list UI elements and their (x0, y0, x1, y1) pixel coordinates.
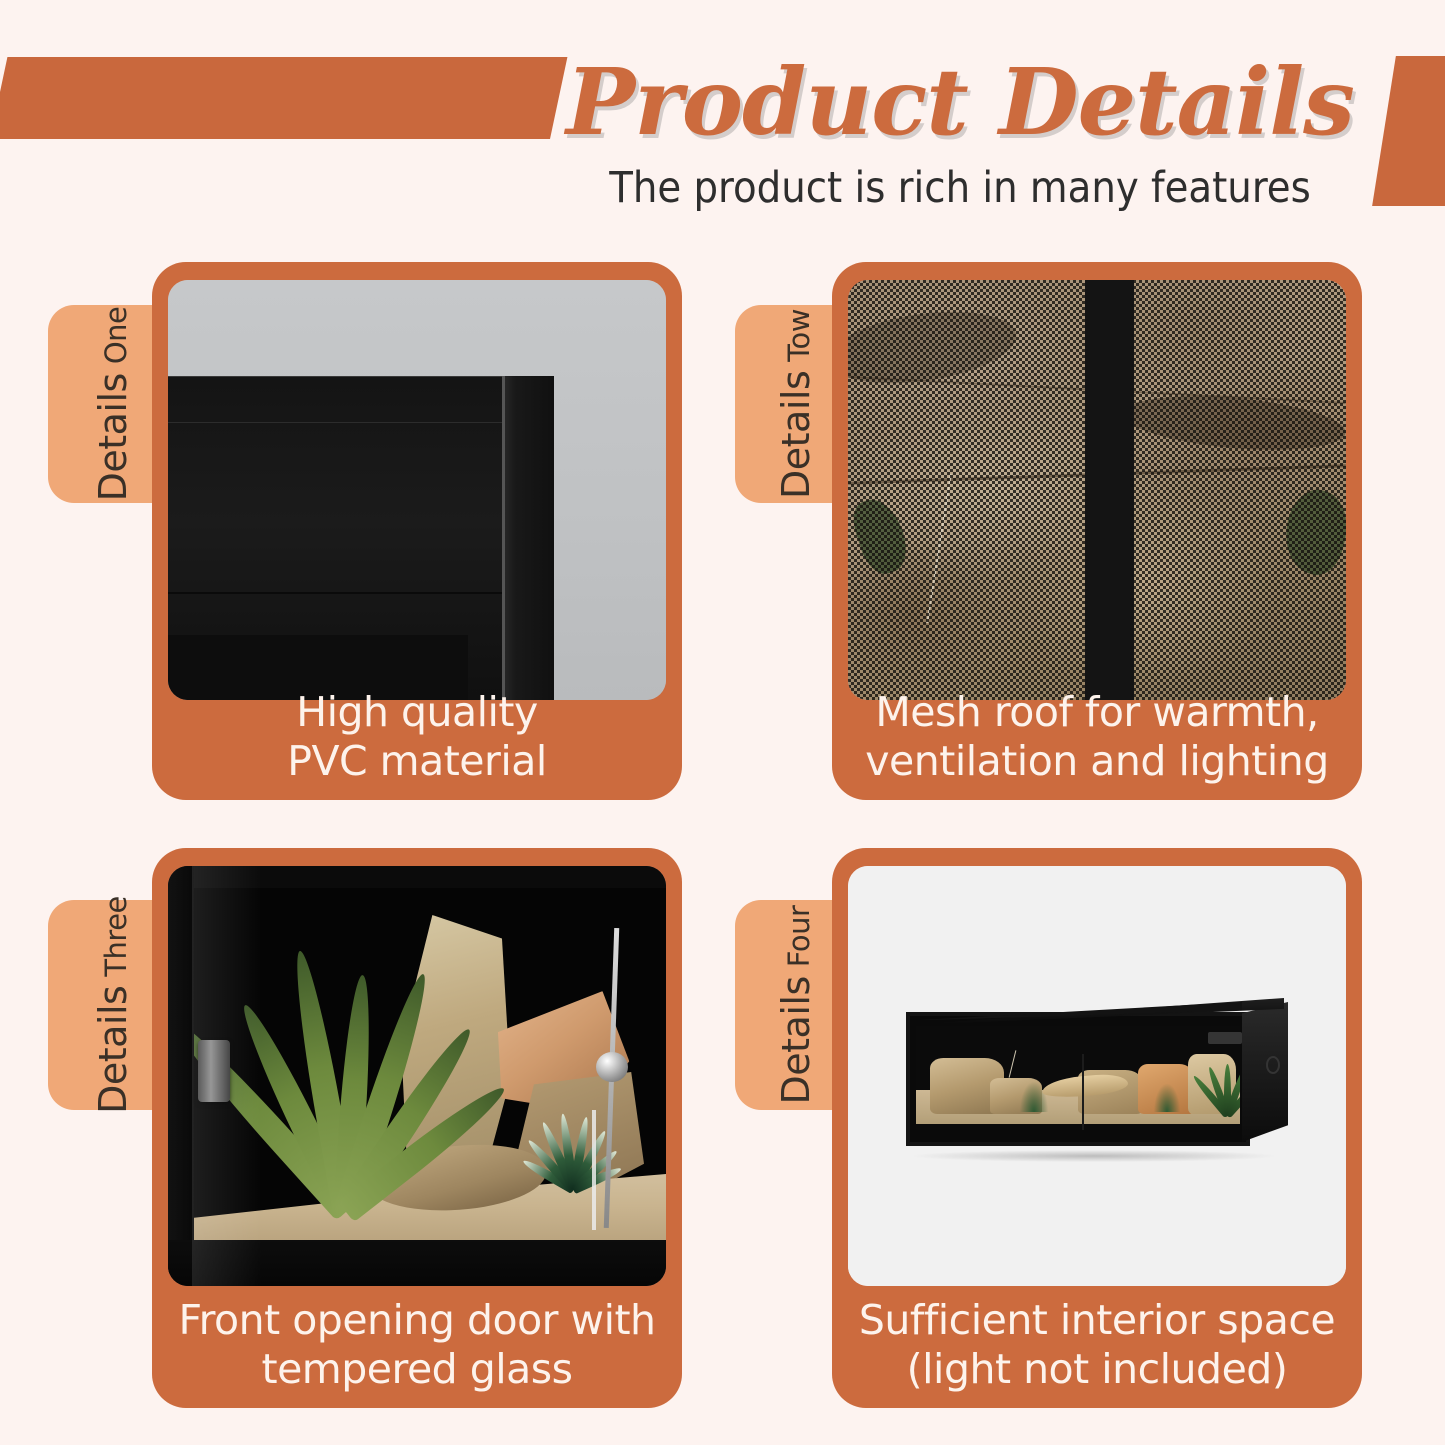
panel-seam-bottom (168, 592, 536, 594)
pvc-panel-edge-highlight (502, 376, 505, 700)
door-frame-left (168, 866, 194, 1286)
details-tab-one-number: One (99, 307, 133, 365)
tank-plant (1154, 1084, 1180, 1112)
detail-card-two[interactable]: Mesh roof for warmth, ventilation and li… (832, 262, 1362, 800)
detail-card-three[interactable]: Front opening door with tempered glass (152, 848, 682, 1408)
header-left-accent-bar (0, 57, 567, 139)
detail-card-four[interactable]: Sufficient interior space (light not inc… (832, 848, 1362, 1408)
caption-line-1: Sufficient interior space (840, 1296, 1354, 1345)
details-tab-four-word: Details (774, 976, 818, 1104)
panel-seam-top (168, 422, 536, 423)
details-tab-two-number: Tow (782, 309, 816, 362)
thermometer-dial (596, 1052, 628, 1082)
page-subtitle: The product is rich in many features (520, 162, 1400, 214)
details-tab-one-inner: Details One (91, 307, 135, 502)
detail-card-one-caption: High quality PVC material (152, 688, 682, 786)
tank-side-panel (1242, 1002, 1288, 1142)
product-shot-background (848, 866, 1346, 1286)
pvc-material-photo (168, 280, 666, 700)
details-tab-four-number: Four (782, 906, 816, 968)
details-tab-two-inner: Details Tow (774, 309, 818, 499)
front-door-photo (168, 866, 666, 1286)
caption-line-1: High quality (160, 688, 674, 737)
caption-line-2: tempered glass (160, 1345, 674, 1394)
detail-card-one[interactable]: High quality PVC material (152, 262, 682, 800)
tank-door-divider (1082, 1054, 1084, 1130)
glass-glare (192, 866, 262, 1286)
caption-line-2: ventilation and lighting (840, 737, 1354, 786)
terrarium-tank (906, 998, 1286, 1158)
detail-card-three-caption: Front opening door with tempered glass (152, 1296, 682, 1394)
side-vent-icon (1266, 1056, 1280, 1074)
tank-glass-front (916, 1026, 1240, 1130)
page-title: Product Details (520, 52, 1400, 152)
caption-line-2: (light not included) (840, 1345, 1354, 1394)
details-tab-three-word: Details (91, 986, 135, 1114)
details-tab-three-inner: Details Three (91, 896, 135, 1114)
details-tab-two-word: Details (774, 371, 818, 499)
mesh-roof-photo (848, 280, 1346, 700)
tank-aloe-plant (1198, 1056, 1240, 1116)
details-tab-four-inner: Details Four (774, 906, 818, 1105)
tank-twig (1009, 1050, 1017, 1077)
details-tab-three-number: Three (99, 896, 133, 977)
terrarium-interior-scene (168, 866, 666, 1286)
detail-card-two-caption: Mesh roof for warmth, ventilation and li… (832, 688, 1362, 786)
pvc-panel-edge (502, 376, 554, 700)
page-header: Product Details The product is rich in m… (0, 0, 1445, 230)
detail-card-four-caption: Sufficient interior space (light not inc… (832, 1296, 1362, 1394)
caption-line-2: PVC material (160, 737, 674, 786)
thermometer-bracket (592, 1110, 626, 1230)
mesh-center-support-bar (1085, 280, 1135, 700)
caption-line-1: Mesh roof for warmth, (840, 688, 1354, 737)
details-tab-one-word: Details (91, 373, 135, 501)
interior-space-photo (848, 866, 1346, 1286)
brand-logo (1208, 1032, 1242, 1044)
caption-line-1: Front opening door with (160, 1296, 674, 1345)
